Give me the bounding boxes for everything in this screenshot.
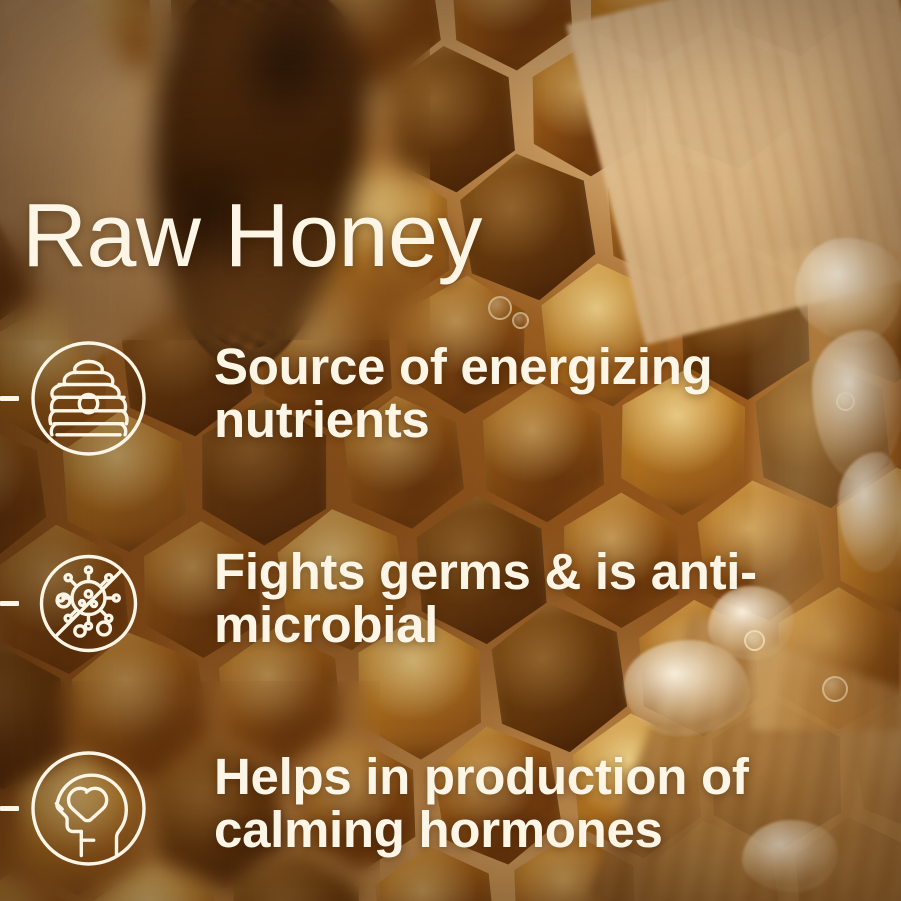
no-germs-icon — [31, 546, 146, 661]
benefit-text: Fights germs & is anti- microbial — [214, 546, 874, 651]
leading-dash — [0, 396, 19, 401]
page-title: Raw Honey — [22, 191, 482, 281]
benefit-text-line2: microbial — [214, 599, 874, 652]
benefit-text-line1: Helps in production of — [214, 748, 749, 805]
leading-dash — [0, 601, 19, 606]
raw-honey-infographic: Raw Honey — [0, 0, 901, 901]
leading-dash — [0, 806, 19, 811]
infographic-content: Raw Honey — [0, 0, 901, 901]
benefit-text-line1: Fights germs & is anti- — [214, 543, 757, 600]
beehive-icon — [31, 341, 146, 456]
benefit-row: Fights germs & is anti- microbial — [0, 538, 901, 668]
benefit-row: Helps in production of calming hormones — [0, 743, 901, 873]
benefit-text-line1: Source of energizing — [214, 338, 712, 395]
benefit-text-line2: nutrients — [214, 394, 874, 447]
benefit-text-line2: calming hormones — [214, 804, 874, 857]
benefit-row: Source of energizing nutrients — [0, 333, 901, 463]
benefit-text: Helps in production of calming hormones — [214, 751, 874, 856]
benefit-text: Source of energizing nutrients — [214, 341, 874, 446]
head-heart-icon — [31, 751, 146, 866]
